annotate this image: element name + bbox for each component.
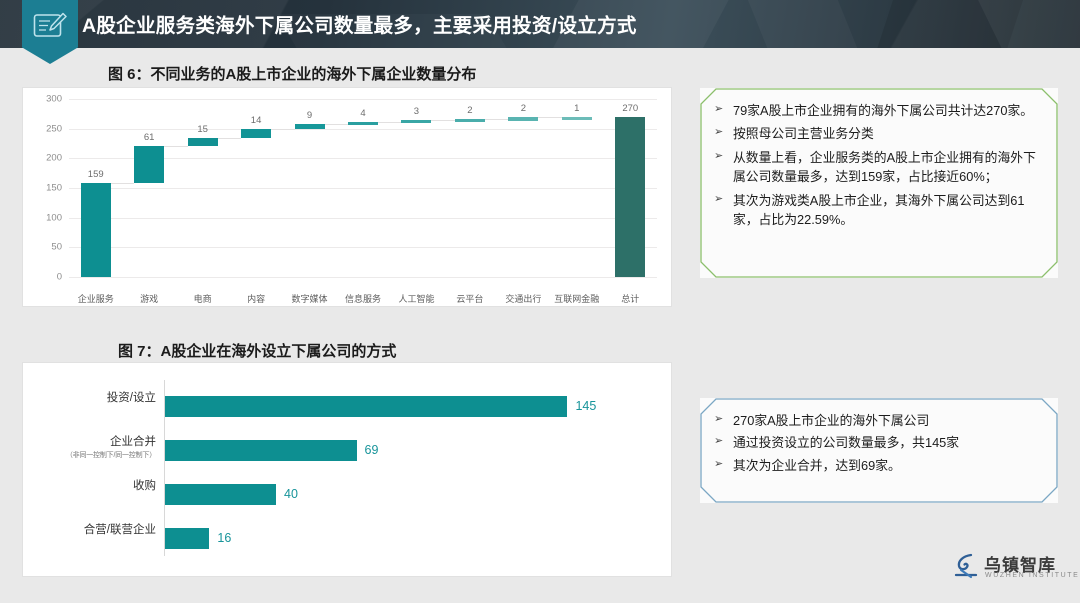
waterfall-bar: [508, 117, 538, 121]
y-axis-tick-label: 150: [46, 183, 62, 194]
chart6-panel: 050100150200250300159企业服务61游戏15电商14内容9数字…: [23, 88, 671, 306]
gridline: 100: [69, 218, 657, 219]
bar-category-label: 投资/设立: [23, 389, 156, 405]
waterfall-connector: [378, 122, 402, 123]
waterfall-connector: [431, 120, 455, 121]
y-axis-tick-label: 300: [46, 94, 62, 105]
callout-bullet-text: 79家A股上市企业拥有的海外下属公司共计达270家。: [733, 103, 1033, 118]
callout-bullet-text: 按照母公司主营业务分类: [733, 126, 874, 141]
callout-bullet-text: 270家A股上市企业的海外下属公司: [733, 413, 929, 428]
wuzhen-logo: 乌镇智库 WUZHEN INSTITUTE: [952, 551, 1064, 589]
x-axis-tick-label: 交通出行: [505, 292, 541, 305]
callout-box-chart6: ➢79家A股上市企业拥有的海外下属公司共计达270家。➢按照母公司主营业务分类➢…: [700, 88, 1058, 278]
gridline: 0: [69, 277, 657, 278]
gridline: 150: [69, 188, 657, 189]
horizontal-bar: [165, 396, 567, 417]
bar-category-name: 投资/设立: [107, 392, 156, 404]
chart7-plot-area: 投资/设立145企业合并（非同一控制下/同一控制下）69收购40合营/联营企业1…: [23, 363, 671, 576]
waterfall-bar: [401, 120, 431, 124]
bar-category-name: 企业合并: [110, 436, 156, 448]
bar-value-label: 270: [622, 103, 638, 114]
callout1-list: ➢79家A股上市企业拥有的海外下属公司共计达270家。➢按照母公司主营业务分类➢…: [700, 88, 1058, 230]
bar-category-name: 收购: [133, 480, 156, 492]
logo-text-en: WUZHEN INSTITUTE: [985, 572, 1079, 579]
bar-value-label: 2: [521, 103, 526, 114]
callout-bullet-text: 通过投资设立的公司数量最多，共145家: [733, 435, 959, 450]
y-axis-tick-label: 0: [57, 272, 62, 283]
x-axis-tick-label: 云平台: [456, 292, 483, 305]
page-title: A股企业服务类海外下属公司数量最多，主要采用投资/设立方式: [82, 9, 637, 38]
bar-value-label: 69: [365, 443, 379, 457]
header-facet: [736, 0, 874, 48]
callout-box-chart7: ➢270家A股上市企业的海外下属公司➢通过投资设立的公司数量最多，共145家➢其…: [700, 398, 1058, 503]
bar-category-label: 合营/联营企业: [23, 521, 156, 537]
chart6-plot-area: 050100150200250300159企业服务61游戏15电商14内容9数字…: [69, 99, 657, 277]
callout-bullet: ➢其次为企业合并，达到69家。: [714, 456, 1040, 475]
horizontal-bar: [165, 528, 209, 549]
callout-bullet-text: 其次为游戏类A股上市企业，其海外下属公司达到61家，占比为22.59%。: [733, 193, 1025, 227]
y-axis-tick-label: 100: [46, 212, 62, 223]
waterfall-bar: [188, 138, 218, 147]
callout-bullet: ➢其次为游戏类A股上市企业，其海外下属公司达到61家，占比为22.59%。: [714, 191, 1040, 230]
callout-bullet-text: 从数量上看，企业服务类的A股上市企业拥有的海外下属公司数量最多，达到159家，占…: [733, 150, 1036, 184]
waterfall-total-bar: [615, 117, 645, 277]
horizontal-bar: [165, 440, 357, 461]
callout-bullet: ➢79家A股上市企业拥有的海外下属公司共计达270家。: [714, 101, 1040, 120]
bar-value-label: 16: [217, 531, 231, 545]
y-axis-tick-label: 50: [51, 242, 62, 253]
bullet-arrow-icon: ➢: [714, 191, 723, 208]
bar-category-label: 收购: [23, 477, 156, 493]
y-axis-tick-label: 200: [46, 153, 62, 164]
bar-value-label: 3: [414, 106, 419, 117]
bullet-arrow-icon: ➢: [714, 456, 723, 473]
waterfall-connector: [485, 119, 509, 120]
x-axis-tick-label: 电商: [194, 292, 212, 305]
header-icon-banner: [22, 0, 78, 64]
waterfall-connector: [538, 117, 562, 118]
callout-bullet: ➢270家A股上市企业的海外下属公司: [714, 411, 1040, 430]
waterfall-connector: [325, 124, 349, 125]
bar-value-label: 9: [307, 110, 312, 121]
bullet-arrow-icon: ➢: [714, 124, 723, 141]
waterfall-bar: [134, 146, 164, 182]
bar-value-label: 4: [360, 108, 365, 119]
waterfall-bar: [562, 117, 592, 121]
waterfall-bar: [81, 183, 111, 277]
bar-category-label: 企业合并（非同一控制下/同一控制下）: [23, 433, 156, 460]
waterfall-connector: [271, 129, 295, 130]
bar-category-name: 合营/联营企业: [84, 524, 156, 536]
bar-category-subtitle: （非同一控制下/同一控制下）: [23, 450, 156, 460]
bar-value-label: 2: [467, 105, 472, 116]
bullet-arrow-icon: ➢: [714, 411, 723, 428]
callout-bullet-text: 其次为企业合并，达到69家。: [733, 458, 901, 473]
waterfall-bar: [241, 129, 271, 137]
horizontal-bar: [165, 484, 276, 505]
waterfall-connector: [164, 146, 188, 147]
x-axis-tick-label: 游戏: [140, 292, 158, 305]
x-axis-tick-label: 数字媒体: [292, 292, 328, 305]
waterfall-bar: [455, 119, 485, 123]
bullet-arrow-icon: ➢: [714, 433, 723, 450]
waterfall-bar: [348, 122, 378, 126]
gridline: 300: [69, 99, 657, 100]
waterfall-bar: [295, 124, 325, 129]
gridline: 50: [69, 247, 657, 248]
callout-bullet: ➢通过投资设立的公司数量最多，共145家: [714, 433, 1040, 452]
x-axis-tick-label: 总计: [621, 292, 639, 305]
bar-value-label: 40: [284, 487, 298, 501]
x-axis-tick-label: 信息服务: [345, 292, 381, 305]
bar-value-label: 1: [574, 103, 579, 114]
x-axis-tick-label: 企业服务: [78, 292, 114, 305]
callout-bullet: ➢从数量上看，企业服务类的A股上市企业拥有的海外下属公司数量最多，达到159家，…: [714, 148, 1040, 187]
bar-value-label: 15: [197, 124, 208, 135]
bullet-arrow-icon: ➢: [714, 101, 723, 118]
bar-value-label: 61: [144, 132, 155, 143]
bar-value-label: 159: [88, 169, 104, 180]
x-axis-tick-label: 内容: [247, 292, 265, 305]
x-axis-tick-label: 人工智能: [398, 292, 434, 305]
waterfall-connector: [218, 138, 242, 139]
callout2-list: ➢270家A股上市企业的海外下属公司➢通过投资设立的公司数量最多，共145家➢其…: [700, 398, 1058, 475]
x-axis-tick-label: 互联网金融: [554, 292, 599, 305]
waterfall-connector: [111, 183, 135, 184]
bar-value-label: 145: [575, 399, 596, 413]
chart6-title: 图 6：不同业务的A股上市企业的海外下属企业数量分布: [108, 63, 476, 84]
chart7-panel: 投资/设立145企业合并（非同一控制下/同一控制下）69收购40合营/联营企业1…: [23, 363, 671, 576]
chart7-title: 图 7：A股企业在海外设立下属公司的方式: [118, 340, 396, 361]
callout-bullet: ➢按照母公司主营业务分类: [714, 124, 1040, 143]
bullet-arrow-icon: ➢: [714, 148, 723, 165]
gridline: 250: [69, 129, 657, 130]
wuzhen-logo-mark-icon: [952, 553, 982, 586]
bar-value-label: 14: [251, 115, 262, 126]
y-axis-tick-label: 250: [46, 123, 62, 134]
